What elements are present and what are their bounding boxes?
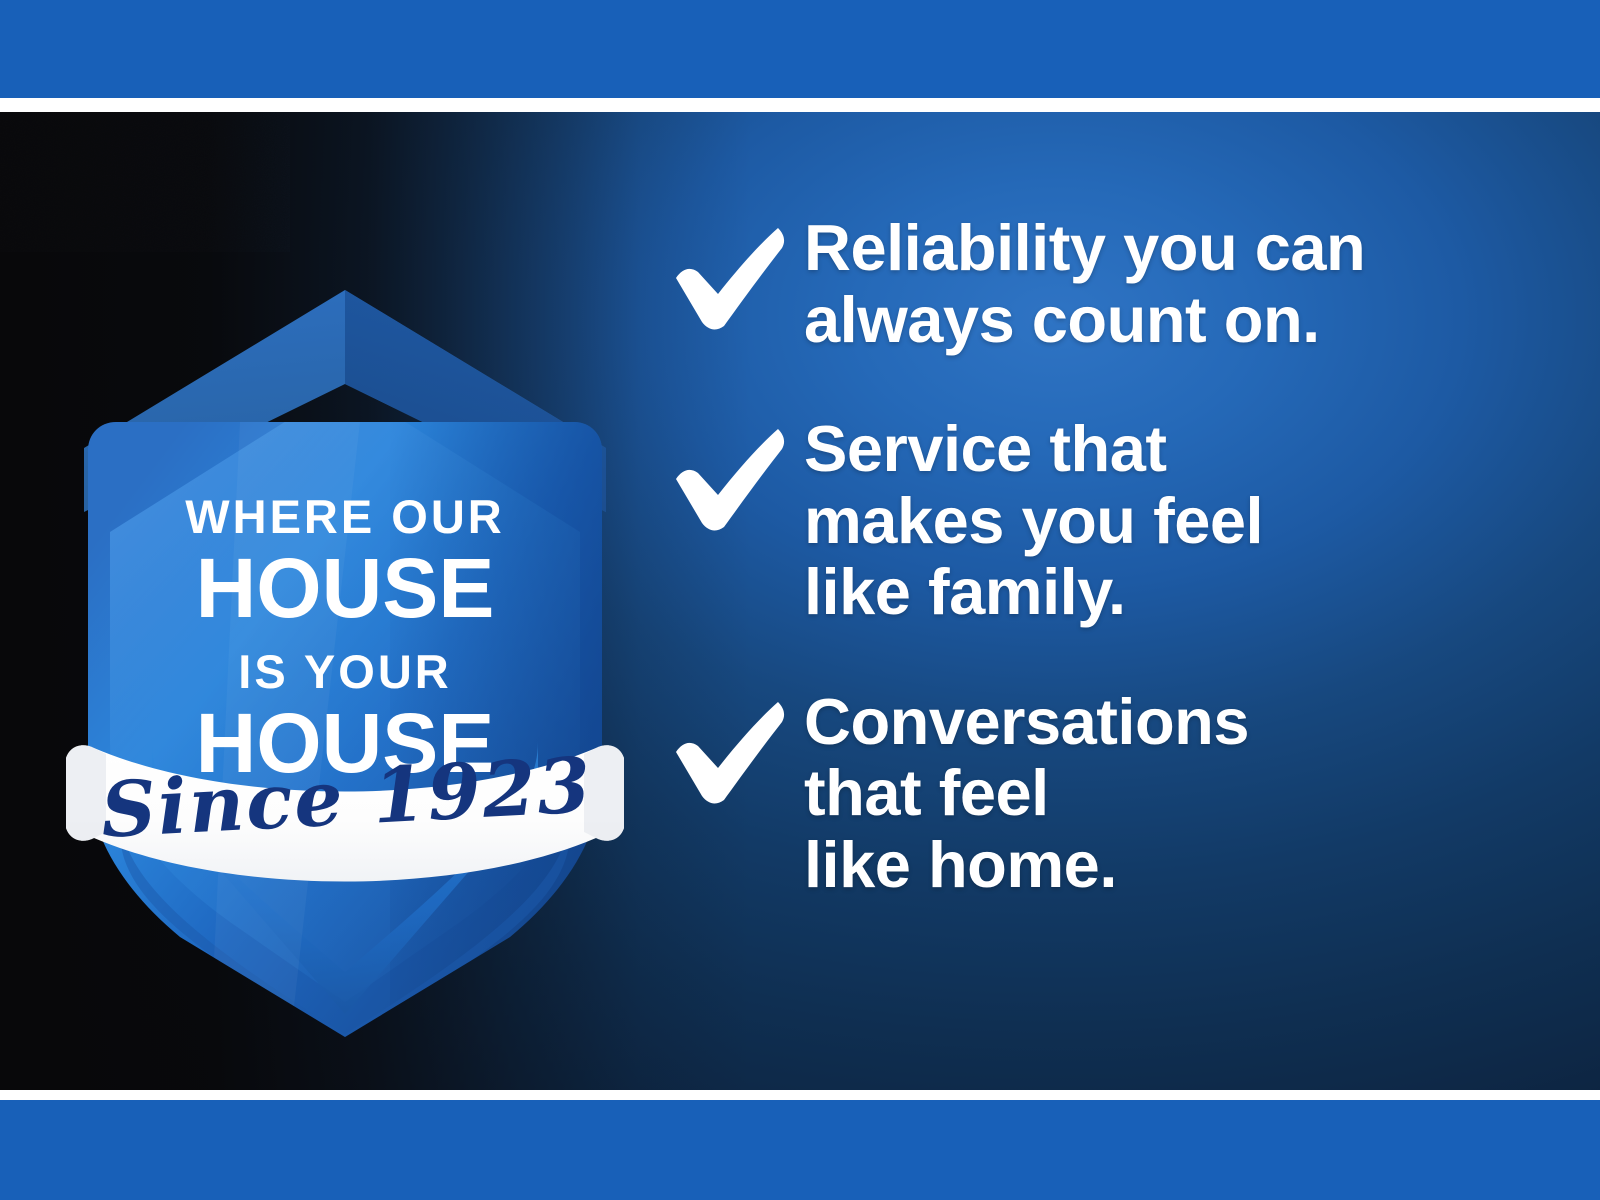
benefit-text-1: Reliability you can always count on. — [804, 212, 1498, 355]
benefit-item-1: Reliability you can always count on. — [668, 212, 1498, 355]
tagline-line-1: WHERE OUR — [185, 490, 504, 543]
checkmark-icon — [668, 686, 804, 808]
background-noise-texture — [0, 112, 290, 252]
benefit-text-3: Conversations that feel like home. — [804, 686, 1498, 901]
main-panel: WHERE OUR HOUSE IS YOUR HOUSE Since 1923 — [0, 112, 1600, 1090]
benefit-item-3: Conversations that feel like home. — [668, 686, 1498, 901]
bottom-brand-bar — [0, 1100, 1600, 1200]
tagline-line-3: IS YOUR — [238, 645, 451, 698]
benefit-text-2: Service that makes you feel like family. — [804, 413, 1498, 628]
promo-graphic: WHERE OUR HOUSE IS YOUR HOUSE Since 1923 — [0, 0, 1600, 1200]
shield-emblem: WHERE OUR HOUSE IS YOUR HOUSE Since 1923 — [60, 272, 630, 1042]
checkmark-icon — [668, 212, 804, 334]
top-brand-bar — [0, 0, 1600, 98]
benefit-item-2: Service that makes you feel like family. — [668, 413, 1498, 628]
checkmark-icon — [668, 413, 804, 535]
tagline-line-2: HOUSE — [196, 541, 495, 635]
benefits-list: Reliability you can always count on. Ser… — [668, 212, 1498, 900]
